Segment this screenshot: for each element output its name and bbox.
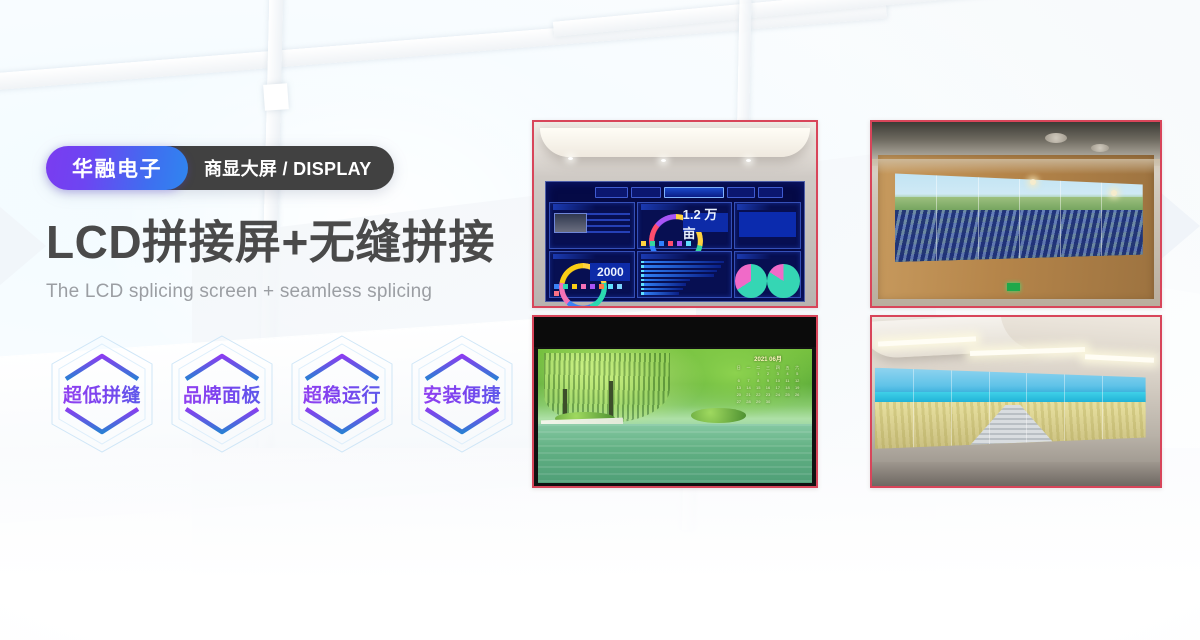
product-gallery: 1.2 万亩 [532, 120, 1162, 488]
pie-chart [767, 264, 799, 298]
panel-seam [1060, 170, 1061, 262]
dashboard-card-bar-chart [637, 251, 733, 298]
dashboard-nav-item[interactable] [631, 187, 661, 198]
panel-seam [978, 170, 979, 262]
dashboard-card-planting-area: 2000 [549, 251, 634, 298]
card-heading [737, 204, 770, 209]
gallery-item-dashboard-video-wall[interactable]: 1.2 万亩 [532, 120, 818, 308]
dashboard-row-top: 1.2 万亩 [549, 202, 800, 249]
card-heading [737, 254, 770, 259]
floor [872, 462, 1160, 486]
feature-list: 超低拼缝 品牌面板 超稳运行 安装便捷 [46, 332, 518, 456]
pie-chart-group [735, 267, 799, 293]
screen-bezel [534, 317, 816, 347]
dashboard-card-pie-stats [734, 251, 800, 298]
ceiling-spot [746, 159, 751, 162]
ceiling-spot [568, 157, 573, 160]
dashboard-card-area-stats: 1.2 万亩 [637, 202, 733, 249]
ceiling-spot [661, 159, 666, 162]
flow-diagram [739, 212, 797, 237]
panel-seam [1101, 170, 1102, 262]
photo-beach-room [872, 317, 1160, 486]
panel-seam [1019, 170, 1020, 262]
ceiling-grille [1045, 133, 1067, 143]
dashboard-nav-item[interactable] [758, 187, 783, 198]
panel-seam [936, 170, 937, 262]
photo-willow-screen: 2021 06月 日一二三四五六 12345678910111213141516… [534, 317, 816, 486]
calendar-overlay: 2021 06月 日一二三四五六 12345678910111213141516… [732, 354, 803, 402]
card-heading [641, 254, 690, 259]
dashboard-title [664, 187, 724, 198]
page-title: LCD拼接屏+无缝拼接 [46, 218, 526, 267]
chart-legend [554, 284, 631, 296]
photo-solar-room [872, 122, 1160, 306]
dashboard-card-intro [549, 202, 634, 249]
card-heading [553, 254, 596, 259]
feature-label: 超低拼缝 [46, 381, 158, 408]
feature-item-2[interactable]: 超稳运行 [286, 332, 398, 456]
calendar-days: 1234567891011121314151617181920212223242… [734, 371, 801, 405]
screen-content: 2021 06月 日一二三四五六 12345678910111213141516… [538, 349, 812, 483]
pie-chart [735, 264, 767, 298]
brand-pill-label: 华融电子 [72, 153, 162, 183]
dashboard-nav-item[interactable] [595, 187, 628, 198]
photo-dashboard-room: 1.2 万亩 [534, 122, 816, 306]
dashboard-topbar [549, 185, 800, 200]
video-wall-screen [875, 368, 1146, 449]
panel-seam [989, 368, 990, 449]
panel-seam [1026, 368, 1027, 449]
metric-value: 2000 [590, 263, 630, 281]
brand-badge-group: 商显大屏 / DISPLAY 华融电子 [46, 146, 188, 190]
category-pill-label: 商显大屏 / DISPLAY [204, 155, 372, 181]
panel-seam [913, 368, 914, 449]
page-subtitle: The LCD splicing screen + seamless splic… [46, 281, 526, 303]
shrub [691, 408, 746, 423]
dashboard-card-diagram [734, 202, 800, 249]
dashboard-screen: 1.2 万亩 [545, 181, 804, 302]
feature-item-3[interactable]: 安装便捷 [406, 332, 518, 456]
video-wall-screen [895, 170, 1143, 262]
panel-seam [951, 368, 952, 449]
dashboard-row-bottom: 2000 [549, 251, 800, 298]
wall-highlight [872, 159, 1160, 174]
feature-label: 品牌面板 [166, 381, 278, 408]
dashboard-nav-item[interactable] [727, 187, 755, 198]
brand-pill: 华融电子 [46, 146, 188, 190]
metric-value: 1.2 万亩 [683, 213, 728, 231]
dashboard-timestamp [549, 187, 592, 198]
card-textlines [587, 213, 630, 235]
bar-chart [641, 261, 727, 295]
chart-legend [641, 241, 727, 246]
gallery-item-beach-boardwalk-video-wall[interactable] [870, 315, 1162, 488]
panel-seam [1102, 368, 1103, 449]
panel-seam [1064, 368, 1065, 449]
feature-item-0[interactable]: 超低拼缝 [46, 332, 158, 456]
card-thumbnail [554, 213, 587, 233]
ceiling-grille [1091, 144, 1109, 152]
feature-item-1[interactable]: 品牌面板 [166, 332, 278, 456]
gallery-item-solar-farm-video-wall[interactable] [870, 120, 1162, 308]
banner-copy: 商显大屏 / DISPLAY 华融电子 LCD拼接屏+无缝拼接 The LCD … [46, 146, 526, 303]
gallery-item-willow-lake-video-wall[interactable]: 2021 06月 日一二三四五六 12345678910111213141516… [532, 315, 818, 488]
card-heading [553, 204, 596, 209]
ceiling-cove [540, 128, 811, 157]
feature-label: 超稳运行 [286, 381, 398, 408]
lake-water [538, 424, 812, 483]
exit-sign-icon [1007, 283, 1020, 291]
feature-label: 安装便捷 [406, 381, 518, 408]
